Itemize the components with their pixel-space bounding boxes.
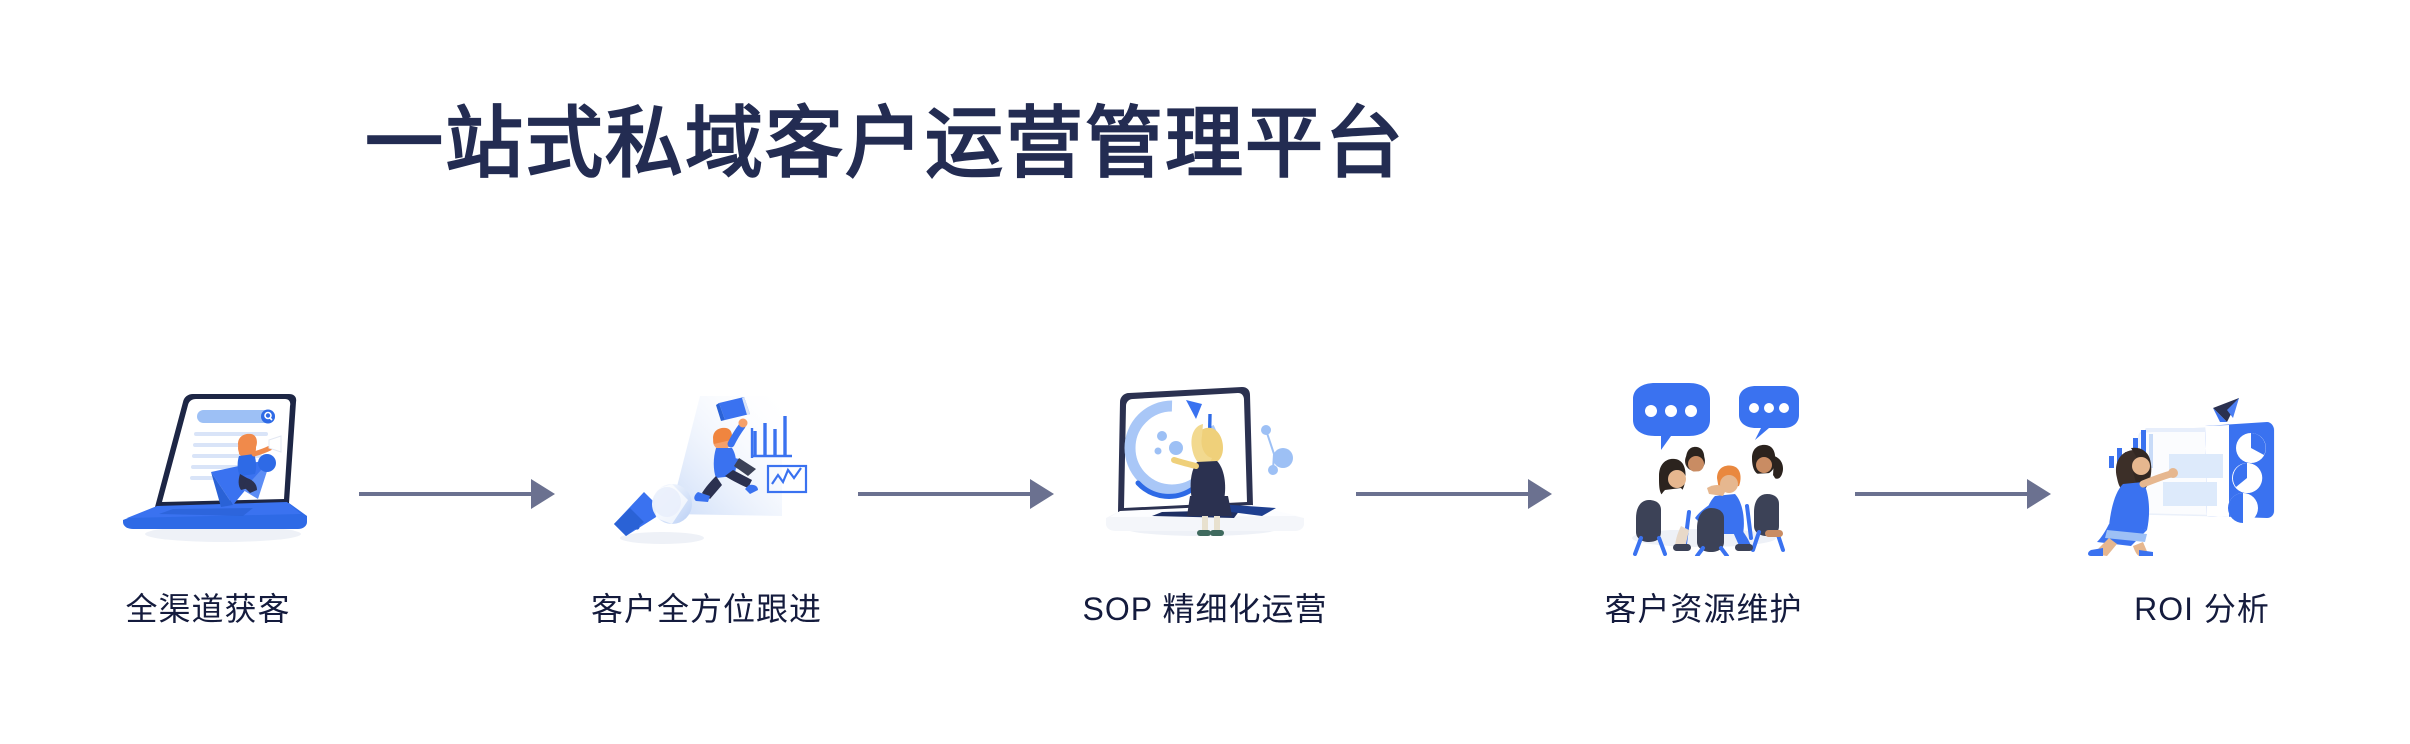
- page-title-row: 一站式私域客户运营管理平台: [0, 48, 1770, 240]
- flow-step-1[interactable]: 全渠道获客: [58, 366, 358, 630]
- laptop-sync-woman-icon: [1090, 366, 1320, 556]
- flow-step-3-label: SOP 精细化运营: [1083, 584, 1328, 630]
- flow-step-4-label: 客户资源维护: [1604, 584, 1802, 630]
- flow-step-2-label: 客户全方位跟进: [591, 584, 822, 630]
- flow-step-3[interactable]: SOP 精细化运营: [1055, 366, 1355, 630]
- arrow-line: [858, 492, 1034, 496]
- arrow-right-icon: [1855, 366, 2051, 556]
- laptop-search-megaphone-icon: [93, 366, 323, 556]
- team-meeting-speech-bubbles-icon: [1589, 366, 1819, 556]
- page-title: 一站式私域客户运营管理平台: [365, 100, 1405, 187]
- process-flow: 全渠道获客: [58, 366, 2352, 676]
- arrow-line: [1356, 492, 1532, 496]
- flow-step-1-label: 全渠道获客: [125, 584, 290, 630]
- arrow-head: [1528, 479, 1552, 509]
- flow-step-2[interactable]: 客户全方位跟进: [557, 366, 857, 630]
- arrow-right-icon: [858, 366, 1054, 556]
- arrow-head: [1030, 479, 1054, 509]
- arrow-line: [359, 492, 535, 496]
- arrow-head: [2027, 479, 2051, 509]
- dashboard-analytics-woman-icon: [2087, 366, 2317, 556]
- flashlight-running-person-charts-icon: [592, 366, 822, 556]
- arrow-line: [1855, 492, 2031, 496]
- arrow-right-icon: [359, 366, 555, 556]
- flow-step-5-label: ROI 分析: [2134, 584, 2270, 630]
- flow-step-5[interactable]: ROI 分析: [2052, 366, 2352, 630]
- flow-step-4[interactable]: 客户资源维护: [1554, 366, 1854, 630]
- arrow-right-icon: [1356, 366, 1552, 556]
- poster-canvas: 一站式私域客户运营管理平台: [0, 0, 2410, 744]
- arrow-head: [531, 479, 555, 509]
